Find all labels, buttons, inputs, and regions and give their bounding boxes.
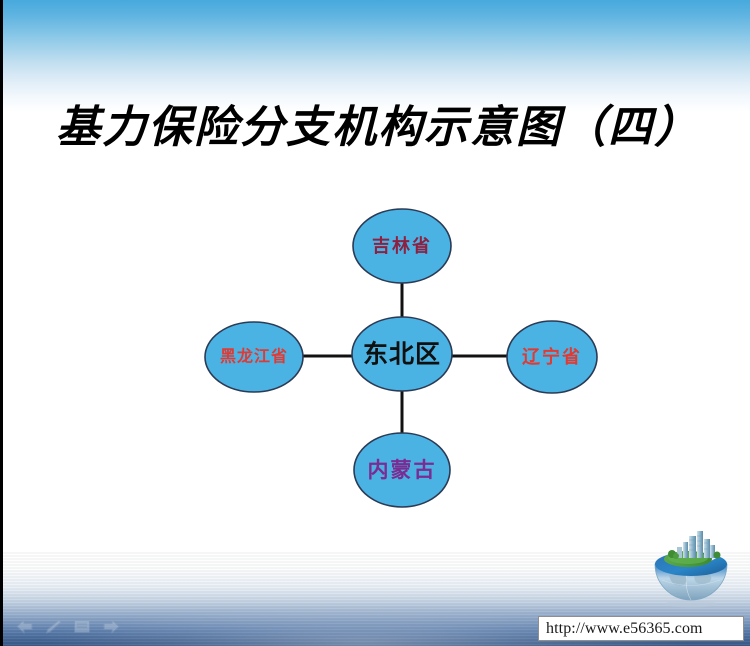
node-liaoning[interactable]: 辽宁省	[507, 321, 597, 393]
node-jilin-label: 吉林省	[372, 235, 432, 256]
node-liaoning-label: 辽宁省	[522, 346, 582, 367]
node-jilin[interactable]: 吉林省	[353, 209, 451, 283]
org-diagram: 吉林省 黑龙江省 东北区 辽宁省 内蒙古	[3, 0, 750, 646]
center-node-label: 东北区	[363, 340, 441, 369]
url-text: http://www.e56365.com	[546, 620, 703, 638]
presentation-slide: 基力保险分支机构示意图（四） 吉林省 黑龙江省	[0, 0, 750, 646]
node-heilongjiang[interactable]: 黑龙江省	[205, 322, 303, 392]
node-heilongjiang-label: 黑龙江省	[220, 347, 288, 366]
node-neimenggu[interactable]: 内蒙古	[354, 433, 450, 507]
url-box[interactable]: http://www.e56365.com	[538, 616, 744, 641]
center-node[interactable]: 东北区	[352, 317, 452, 391]
globe-city-logo	[643, 528, 739, 614]
node-neimenggu-label: 内蒙古	[368, 458, 437, 482]
